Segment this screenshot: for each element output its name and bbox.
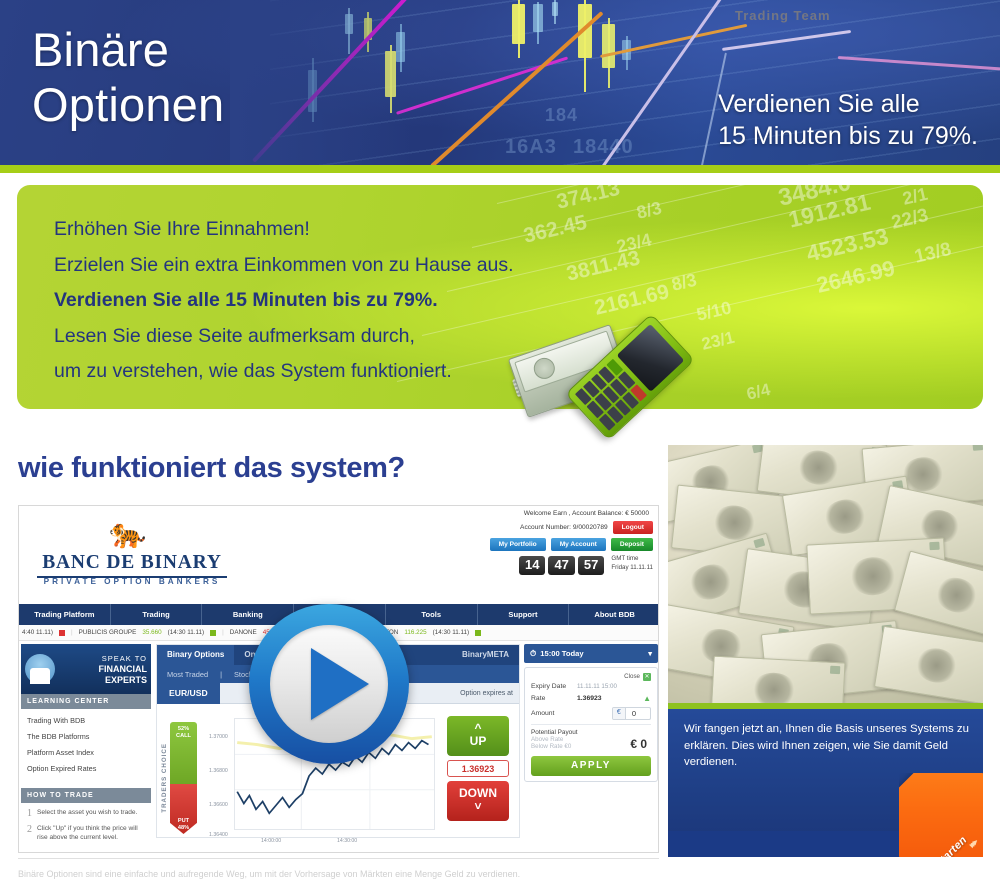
account-bar: Welcome Earn , Account Balance: € 50000 … (475, 510, 653, 575)
call-label: CALL (176, 733, 191, 739)
learning-item-asset-index[interactable]: Platform Asset Index (27, 745, 145, 761)
promo-line: Erhöhen Sie Ihre Einnahmen! (54, 212, 514, 248)
traders-choice-widget: TRADERS CHOICE 52% CALL PUT 48% (161, 710, 207, 846)
promo-number: 8/3 (670, 270, 699, 296)
promo-line-highlight: Verdienen Sie alle 15 Minuten bis zu 79%… (54, 283, 514, 319)
server-clock-row: 14 47 57 GMT time Friday 11.11.11 (475, 551, 653, 575)
expiry-select[interactable]: ⏱ 15:00 Today ▾ (524, 644, 658, 663)
ticker-up-icon (475, 630, 481, 636)
account-welcome: Welcome Earn , Account Balance: € 50000 (475, 510, 653, 517)
asset-pair-label: EUR/USD (157, 683, 220, 704)
how-to-trade-step: 1 Select the asset you wish to trade. (27, 808, 145, 819)
chart-y-label: 1.37000 (209, 734, 228, 740)
tab-binary-options[interactable]: Binary Options (157, 645, 234, 665)
below-rate-key: Below Rate (531, 743, 563, 750)
expiry-date-value: 11.11.11 15:00 (577, 683, 617, 690)
close-row[interactable]: Close✕ (531, 673, 651, 681)
play-triangle-icon (311, 648, 369, 720)
promo-number: 22/3 (890, 205, 931, 235)
tab-binarymeta[interactable]: BinaryMETA (452, 645, 519, 665)
clock-hours: 14 (519, 556, 545, 575)
advisor-avatar-icon (25, 654, 55, 684)
apply-button[interactable]: APPLY (531, 756, 651, 776)
ticker-value: 116.225 (404, 625, 426, 641)
rate-row: Rate 1.36923 ▲ (531, 694, 651, 703)
order-panel: ⏱ 15:00 Today ▾ Close✕ Expiry Date 11.11… (524, 644, 658, 838)
learning-item-trading-with-bdb[interactable]: Trading With BDB (27, 713, 145, 729)
potential-payout-block: Potential Payout Above Rate Below Rate €… (531, 724, 651, 750)
ticker-time: (14:30 11.11) (433, 625, 470, 641)
chevron-down-icon: ▾ (648, 644, 652, 663)
amount-row: Amount € 0 (531, 707, 651, 720)
chart-y-label: 1.36600 (209, 802, 228, 808)
traders-choice-label: TRADERS CHOICE (161, 743, 168, 813)
account-number-row: Account Number: 9/00020789 Logout (475, 521, 653, 534)
page-title: Binäre Optionen (32, 22, 224, 132)
start-now-ribbon[interactable]: Jetzt starten ▸▸▸ (899, 773, 983, 857)
my-portfolio-button[interactable]: My Portfolio (490, 538, 546, 551)
candlestick (552, 0, 558, 24)
promo-banner: 374.13 8/3 362.45 23/4 3811.43 8/3 2161.… (17, 185, 983, 409)
speak-to-experts-banner[interactable]: SPEAK TO FINANCIAL EXPERTS (21, 644, 151, 694)
speak-small: SPEAK TO (102, 654, 147, 663)
option-expires-label: Option expires at (460, 690, 519, 697)
amount-key: Amount (531, 710, 577, 717)
ticker-name: DANONE (230, 625, 257, 641)
how-to-trade-header: HOW TO TRADE (21, 788, 151, 803)
section-title: wie funktioniert das system? (18, 452, 405, 485)
logout-button[interactable]: Logout (613, 521, 653, 534)
candlestick (512, 0, 525, 58)
promo-text-block: Erhöhen Sie Ihre Einnahmen! Erzielen Sie… (54, 212, 514, 390)
my-account-button[interactable]: My Account (551, 538, 606, 551)
ticker-time: (14:30 11.11) (168, 625, 205, 641)
deposit-button[interactable]: Deposit (611, 538, 653, 551)
chart-y-label: 1.36800 (209, 768, 228, 774)
promo-line: Lesen Sie diese Seite aufmerksam durch, (54, 319, 514, 355)
ghost-number: 184 (545, 105, 578, 126)
learning-item-bdb-platforms[interactable]: The BDB Platforms (27, 729, 145, 745)
ghost-number: 16A3 (505, 136, 557, 159)
chart-y-label: 1.36400 (209, 832, 228, 838)
header-subtitle-line2: 15 Minuten bis zu 79%. (718, 120, 978, 152)
speak-text: SPEAK TO FINANCIAL EXPERTS (59, 653, 147, 686)
amount-input[interactable]: € 0 (612, 707, 651, 720)
close-label: Close (624, 673, 640, 680)
ticker-time: 4:40 11.11) (22, 625, 53, 641)
ghost-label: Trading Team (735, 8, 831, 23)
page-header: 184 16A3 18440 Trading Team Binäre Optio… (0, 0, 1000, 165)
nav-item-about[interactable]: About BDB (569, 604, 659, 625)
down-button[interactable]: DOWN ˅ (447, 781, 509, 821)
rate-key: Rate (531, 695, 577, 702)
clock-minutes: 47 (548, 556, 574, 575)
learning-item-expired-rates[interactable]: Option Expired Rates (27, 760, 145, 776)
nav-item-trading[interactable]: Trading (111, 604, 203, 625)
step-text: Select the asset you wish to trade. (37, 808, 137, 819)
order-card: Close✕ Expiry Date 11.11.11 15:00 Rate 1… (524, 667, 658, 782)
ticker-value: 35.660 (142, 625, 161, 641)
lion-icon: 🐅 (109, 519, 146, 549)
close-icon[interactable]: ✕ (643, 673, 651, 681)
footer-text: Binäre Optionen sind eine einfache und a… (18, 868, 668, 880)
nav-item-tools[interactable]: Tools (386, 604, 478, 625)
expiry-date-key: Expiry Date (531, 683, 577, 690)
how-to-trade-step: 2 Click "Up" if you think the price will… (27, 824, 145, 842)
subtab-most-traded[interactable]: Most Traded (167, 670, 208, 679)
chart-x-label: 14:30:00 (337, 838, 357, 844)
cash-and-phone-illustration (510, 300, 750, 410)
ticker-down-icon (59, 630, 65, 636)
rate-value: 1.36923 (577, 695, 602, 702)
chart-x-label: 14:00:00 (261, 838, 281, 844)
promo-line: Erzielen Sie ein extra Einkommen von zu … (54, 248, 514, 284)
currency-symbol: € (613, 708, 626, 719)
below-rate-value: €0 (564, 743, 571, 750)
amount-value[interactable]: 0 (626, 708, 650, 719)
header-green-divider (0, 165, 1000, 173)
gmt-label: GMT time Friday 11.11.11 (604, 551, 653, 573)
learning-center-list: Trading With BDB The BDB Platforms Platf… (21, 709, 151, 780)
money-photo (668, 445, 983, 703)
platform-sidebar: SPEAK TO FINANCIAL EXPERTS LEARNING CENT… (21, 644, 151, 852)
traders-choice-put: PUT 48% (170, 784, 197, 834)
server-clock: 14 47 57 (519, 556, 604, 575)
brand-tagline: PRIVATE OPTION BANKERS (37, 577, 227, 586)
promo-number: 374.13 (554, 185, 622, 215)
learning-center-header: LEARNING CENTER (21, 694, 151, 709)
gmt-line2: Friday 11.11.11 (611, 563, 653, 572)
promo-number: 13/8 (913, 239, 954, 269)
candlestick (578, 0, 592, 92)
play-icon[interactable] (249, 604, 409, 764)
nav-item-trading-platform[interactable]: Trading Platform (19, 604, 111, 625)
traders-choice-call: 52% CALL (170, 722, 197, 784)
header-subtitle: Verdienen Sie alle 15 Minuten bis zu 79%… (718, 88, 978, 152)
calendar-icon: ⏱ (530, 644, 536, 663)
footer-divider (18, 858, 659, 859)
step-number: 2 (27, 824, 32, 842)
candlestick (533, 2, 543, 44)
promo-number: 3811.43 (564, 246, 642, 286)
info-note: Wir fangen jetzt an, Ihnen die Basis uns… (668, 709, 983, 857)
speak-big-1: FINANCIAL (99, 664, 148, 674)
traders-choice-bar: 52% CALL PUT 48% (170, 722, 197, 834)
ticker-up-icon (210, 630, 216, 636)
step-text: Click "Up" if you think the price will r… (37, 824, 145, 842)
trade-action-buttons: ^ UP 1.36923 DOWN ˅ (441, 710, 515, 846)
clock-seconds: 57 (578, 556, 604, 575)
gmt-line1: GMT time (611, 554, 653, 563)
up-button[interactable]: ^ UP (447, 716, 509, 756)
put-pct: 48% (170, 825, 197, 832)
call-pct: 52% (178, 726, 189, 732)
speak-big-2: EXPERTS (105, 675, 147, 685)
step-number: 1 (27, 808, 32, 819)
current-rate-display: 1.36923 (447, 760, 509, 777)
payout-title: Potential Payout (531, 729, 651, 736)
expiry-date-row: Expiry Date 11.11.11 15:00 (531, 683, 651, 690)
page-title-line1: Binäre (32, 22, 224, 77)
promo-line: um zu verstehen, wie das System funktion… (54, 354, 514, 390)
trend-up-icon: ▲ (643, 694, 651, 703)
header-subtitle-line1: Verdienen Sie alle (718, 88, 978, 120)
how-to-trade-list: 1 Select the asset you wish to trade. 2 … (21, 803, 151, 852)
ticker-name: PUBLICIS GROUPE (79, 625, 137, 641)
nav-item-support[interactable]: Support (478, 604, 570, 625)
down-chevron-icon: ˅ (447, 800, 509, 813)
payout-amount: € 0 (630, 737, 647, 751)
header-fade (230, 0, 410, 165)
page-title-line2: Optionen (32, 77, 224, 132)
account-number: Account Number: 9/00020789 (520, 524, 608, 531)
ghost-number: 18440 (573, 136, 634, 159)
account-action-buttons: My Portfolio My Account Deposit (475, 538, 653, 551)
brand-name: BANC DE BINARY (37, 552, 227, 578)
up-label: UP (447, 735, 509, 748)
promo-number: 362.45 (521, 211, 589, 249)
info-note-text: Wir fangen jetzt an, Ihnen die Basis uns… (668, 709, 983, 771)
promo-number: 8/3 (635, 198, 664, 224)
expiry-select-value: 15:00 Today (540, 644, 583, 663)
